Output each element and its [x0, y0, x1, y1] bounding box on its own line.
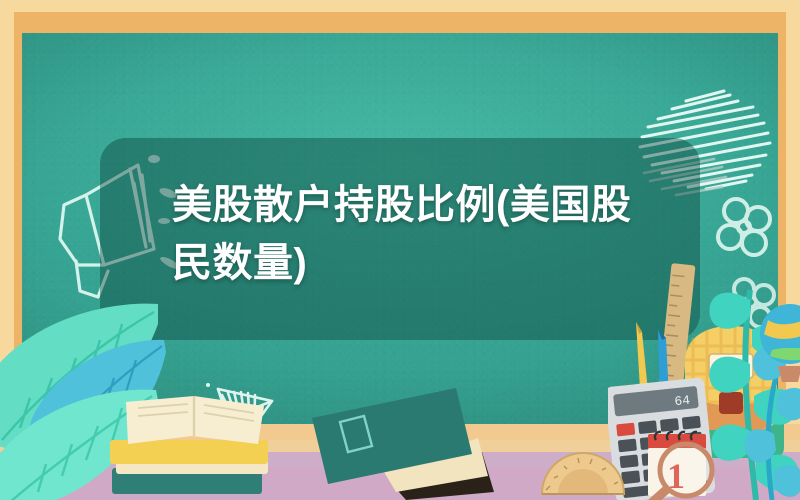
- book-icon: [306, 388, 496, 500]
- banner-image: 美股散户持股比例(美国股民数量): [0, 0, 800, 500]
- page-title: 美股散户持股比例(美国股民数量): [172, 176, 642, 292]
- globe-icon: [758, 300, 800, 386]
- book-stack-icon: [108, 396, 278, 500]
- calculator-display-value: 64: [674, 393, 691, 410]
- protractor-icon: [538, 432, 628, 500]
